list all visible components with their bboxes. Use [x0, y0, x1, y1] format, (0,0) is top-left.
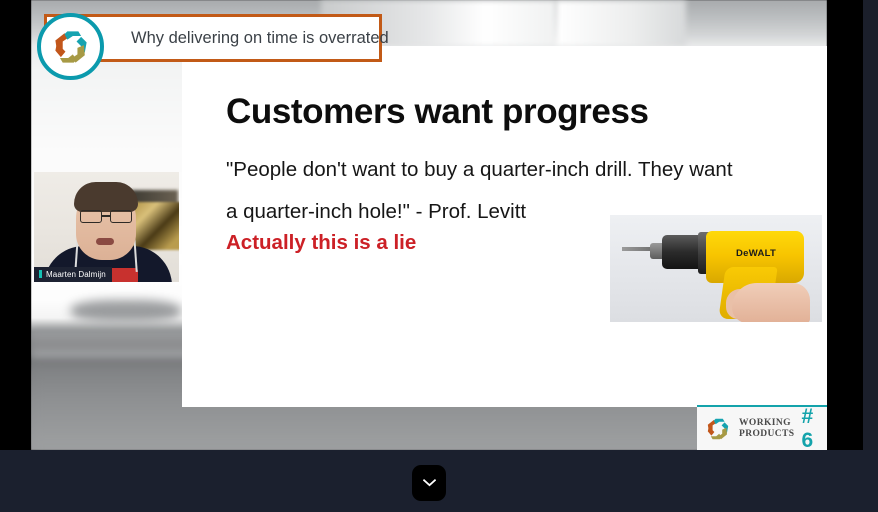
speaker-webcam[interactable]: Maarten Dalmijn — [34, 172, 179, 282]
drill-photo: DeWALT — [610, 215, 822, 322]
presentation-slide: Customers want progress "People don't wa… — [182, 46, 827, 407]
speaker-name-text: Maarten Dalmijn — [46, 270, 106, 279]
background-highlight-b — [556, 0, 686, 46]
working-products-logo-icon — [703, 414, 733, 444]
glasses-lens-left — [80, 210, 102, 223]
collapse-button[interactable] — [412, 465, 446, 501]
badge-words: WORKING PRODUCTS — [739, 418, 794, 440]
glasses-bridge — [102, 215, 110, 217]
speaker-glasses-icon — [78, 210, 134, 223]
background-blob-a — [71, 300, 181, 322]
video-player-app: Customers want progress "People don't wa… — [0, 0, 878, 512]
badge-number: # 6 — [801, 405, 827, 451]
video-stage[interactable]: Customers want progress "People don't wa… — [0, 0, 863, 450]
brand-logo-badge — [37, 13, 104, 80]
hand — [732, 283, 810, 322]
video-letterbox-right — [827, 0, 863, 450]
banner-title: Why delivering on time is overrated — [131, 29, 389, 48]
speaker-name-label: Maarten Dalmijn — [34, 267, 112, 282]
horizontal-scrollbar-track[interactable] — [0, 498, 878, 506]
video-letterbox-left — [0, 0, 31, 450]
badge-line-2: PRODUCTS — [739, 429, 794, 440]
badge-line-1: WORKING — [739, 418, 794, 429]
drill-brand-label: DeWALT — [736, 248, 776, 259]
mic-indicator-icon — [39, 270, 42, 278]
slide-title: Customers want progress — [226, 92, 649, 132]
slide-punchline: Actually this is a lie — [226, 231, 416, 255]
glasses-lens-right — [110, 210, 132, 223]
status-badge: WORKING PRODUCTS # 6 — [697, 405, 827, 450]
speaker-mouth — [96, 238, 114, 245]
speaker-hair — [74, 182, 138, 212]
chevron-down-icon — [423, 479, 436, 487]
working-products-hexagon-icon — [48, 24, 94, 70]
